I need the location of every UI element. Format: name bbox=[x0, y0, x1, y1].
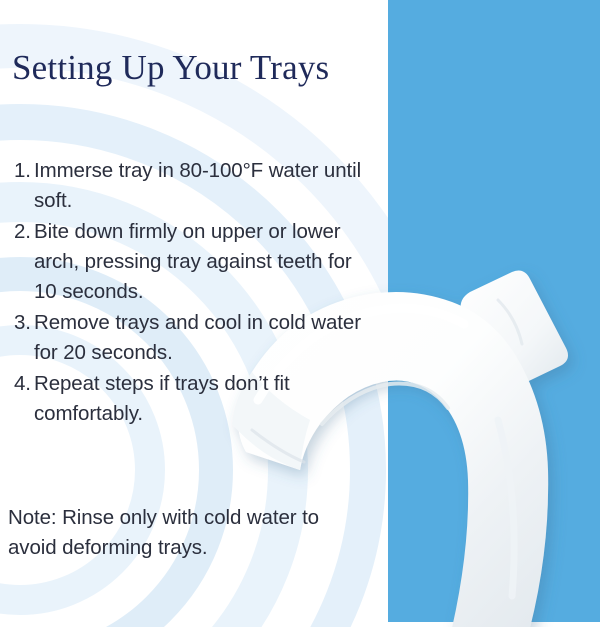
list-item: 2. Bite down firmly on upper or lower ar… bbox=[14, 217, 364, 307]
blue-side-panel bbox=[388, 0, 600, 622]
list-item-number: 4. bbox=[14, 369, 32, 399]
setup-steps-list: 1. Immerse tray in 80-100°F water until … bbox=[14, 156, 364, 430]
list-item: 4. Repeat steps if trays don’t fit comfo… bbox=[14, 369, 364, 429]
page-title: Setting Up Your Trays bbox=[12, 42, 342, 93]
instruction-card: Setting Up Your Trays 1. Immerse tray in… bbox=[0, 0, 600, 627]
text-content: Setting Up Your Trays 1. Immerse tray in… bbox=[0, 0, 388, 627]
care-note: Note: Rinse only with cold water to avoi… bbox=[8, 503, 368, 563]
list-item-number: 2. bbox=[14, 217, 32, 247]
list-item-text: Bite down firmly on upper or lower arch,… bbox=[34, 220, 352, 303]
list-item-number: 3. bbox=[14, 308, 32, 338]
list-item-text: Remove trays and cool in cold water for … bbox=[34, 311, 361, 364]
list-item-number: 1. bbox=[14, 156, 32, 186]
list-item: 1. Immerse tray in 80-100°F water until … bbox=[14, 156, 364, 216]
list-item-text: Repeat steps if trays don’t fit comforta… bbox=[34, 372, 290, 425]
list-item-text: Immerse tray in 80-100°F water until sof… bbox=[34, 159, 361, 212]
list-item: 3. Remove trays and cool in cold water f… bbox=[14, 308, 364, 368]
